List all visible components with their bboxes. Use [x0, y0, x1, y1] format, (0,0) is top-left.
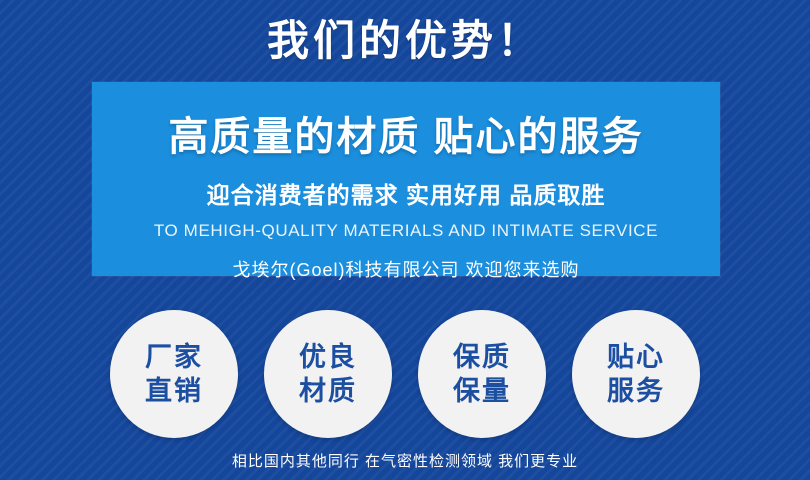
feature-circle-3: 保质 保量	[418, 310, 546, 438]
poster-content: 我们的优势！ 高质量的材质 贴心的服务 迎合消费者的需求 实用好用 品质取胜 T…	[0, 0, 810, 480]
feature-circle-2-bottom: 材质	[299, 374, 357, 408]
feature-circle-2: 优良 材质	[264, 310, 392, 438]
panel-secondary-slogan: 迎合消费者的需求 实用好用 品质取胜	[92, 176, 720, 210]
highlight-panel: 高质量的材质 贴心的服务 迎合消费者的需求 实用好用 品质取胜 TO MEHIG…	[92, 82, 720, 276]
feature-circle-4-bottom: 服务	[607, 374, 665, 408]
feature-circle-1-top: 厂家	[145, 340, 203, 374]
feature-circle-2-top: 优良	[299, 340, 357, 374]
panel-company-line: 戈埃尔(Goel)科技有限公司 欢迎您来选购	[92, 256, 720, 282]
feature-circle-1-bottom: 直销	[145, 374, 203, 408]
feature-circle-4-top: 贴心	[607, 340, 665, 374]
feature-circle-3-bottom: 保量	[453, 374, 511, 408]
feature-circle-list: 厂家 直销 优良 材质 保质 保量 贴心 服务	[0, 310, 810, 438]
footnote-text: 相比国内其他同行 在气密性检测领域 我们更专业	[0, 450, 810, 471]
panel-english-slogan: TO MEHIGH-QUALITY MATERIALS AND INTIMATE…	[92, 221, 720, 241]
panel-primary-slogan: 高质量的材质 贴心的服务	[92, 104, 720, 162]
feature-circle-4: 贴心 服务	[572, 310, 700, 438]
page-title: 我们的优势！	[0, 14, 810, 68]
feature-circle-1: 厂家 直销	[110, 310, 238, 438]
feature-circle-3-top: 保质	[453, 340, 511, 374]
